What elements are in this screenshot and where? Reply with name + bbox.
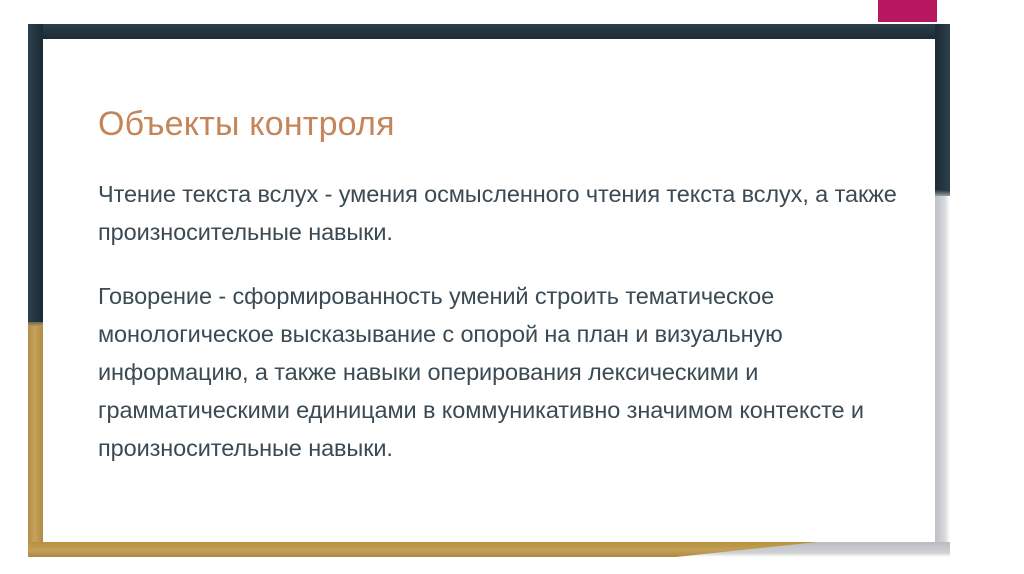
slide-frame: Объекты контроля Чтение текста вслух - у… — [28, 24, 950, 557]
body-paragraph-1: Чтение текста вслух - умения осмысленног… — [98, 175, 910, 251]
slide-title: Объекты контроля — [98, 104, 910, 145]
frame-border-left-navy — [28, 24, 43, 322]
body-paragraph-2: Говорение - сформированность умений стро… — [98, 277, 910, 467]
accent-tab-decoration — [878, 0, 937, 22]
frame-border-top — [28, 24, 950, 39]
slide-body: Чтение текста вслух - умения осмысленног… — [98, 175, 910, 467]
frame-border-right-grey — [935, 190, 950, 557]
frame-border-right-navy — [935, 24, 950, 190]
frame-border-left-gold — [28, 322, 43, 557]
slide-content: Объекты контроля Чтение текста вслух - у… — [98, 104, 910, 467]
slide-canvas: Объекты контроля Чтение текста вслух - у… — [0, 0, 1024, 574]
